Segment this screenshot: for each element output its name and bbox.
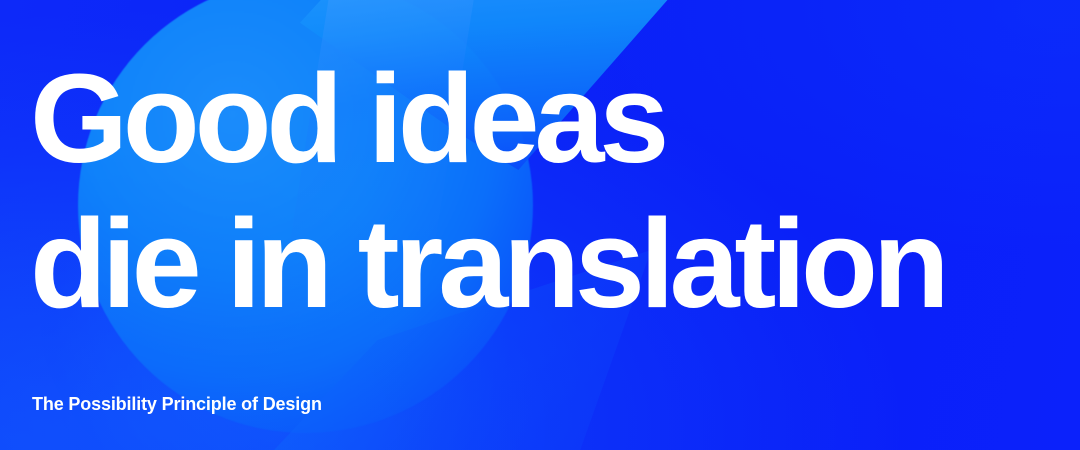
poster-content: Good ideas die in translation The Possib… [0, 0, 1080, 450]
page-title: Good ideas die in translation [30, 46, 945, 336]
subtitle-text: The Possibility Principle of Design [32, 394, 322, 415]
headline-line-2: die in translation [30, 191, 945, 336]
headline-line-1: Good ideas [30, 46, 945, 191]
poster-canvas: Good ideas die in translation The Possib… [0, 0, 1080, 450]
